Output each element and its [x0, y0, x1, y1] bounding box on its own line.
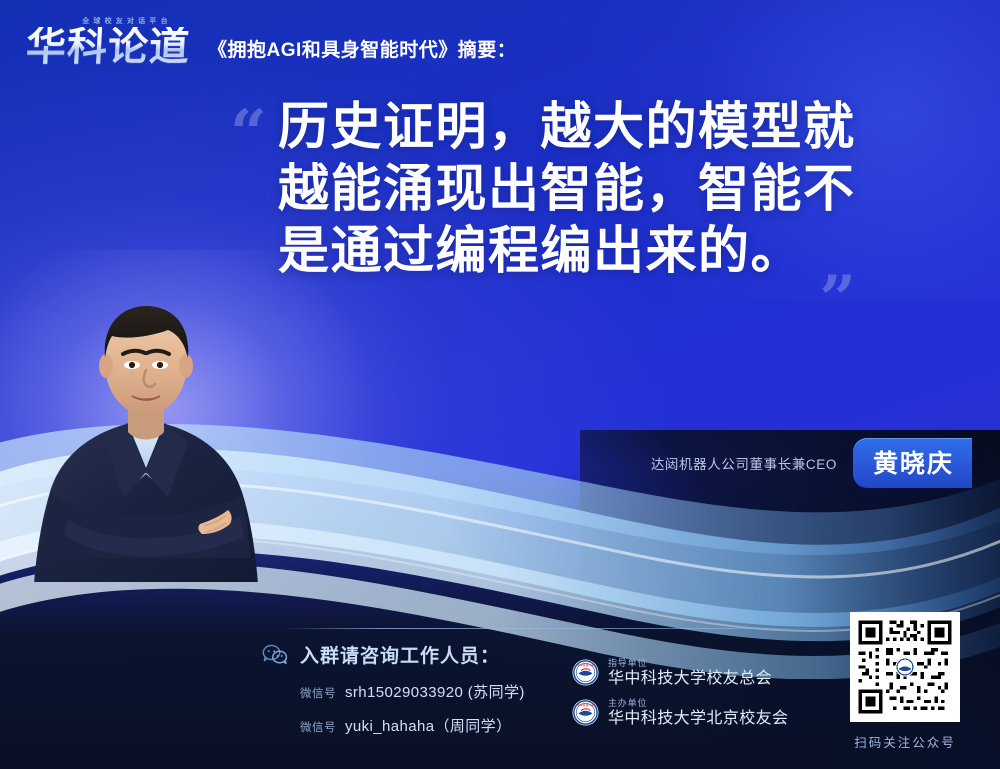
brand-logo[interactable]: 全球校友对话平台 华科论道: [26, 16, 190, 67]
logo-wordmark: 华科论道: [25, 27, 191, 67]
quote-text: 历史证明，越大的模型就 越能涌现出智能，智能不 是通过编程编出来的。: [278, 96, 938, 282]
university-seal-icon: 华中科技大学: [572, 699, 599, 726]
organization-kind: 指导单位: [608, 659, 772, 669]
header: 全球校友对话平台 华科论道 《拥抱AGI和具身智能时代》摘要：: [26, 16, 516, 67]
quote-line-2: 越能涌现出智能，智能不: [278, 158, 938, 220]
organizations-section: 华中科技大学 指导单位 华中科技大学校友总会: [572, 641, 788, 739]
contact-value[interactable]: yuki_hahaha（周同学）: [345, 715, 511, 736]
university-seal-icon: 华中科技大学: [572, 659, 599, 686]
open-quote-mark: “: [230, 102, 267, 166]
page-title: 《拥抱AGI和具身智能时代》摘要：: [208, 35, 516, 67]
close-quote-mark: ”: [819, 268, 856, 332]
contact-value[interactable]: srh15029033920 (苏同学): [345, 681, 525, 702]
organization-kind: 主办单位: [608, 699, 788, 709]
speaker-portrait: [28, 292, 264, 582]
contact-section: 入群请咨询工作人员： 微信号 srh15029033920 (苏同学) 微信号 …: [262, 641, 562, 739]
organization-name: 华中科技大学校友总会: [608, 670, 772, 687]
svg-text:华中科技大学: 华中科技大学: [576, 702, 594, 707]
speaker-role: 达闼机器人公司董事长兼CEO: [651, 453, 837, 473]
organization-row: 华中科技大学 主办单位 华中科技大学北京校友会: [572, 699, 788, 727]
contact-row: 微信号 srh15029033920 (苏同学): [300, 681, 562, 702]
footer: 入群请咨询工作人员： 微信号 srh15029033920 (苏同学) 微信号 …: [262, 628, 822, 739]
contact-label: 微信号: [300, 685, 336, 701]
contact-heading: 入群请咨询工作人员：: [300, 641, 500, 668]
qr-code-block: 扫码关注公众号: [838, 612, 972, 751]
poster-canvas: 全球校友对话平台 华科论道 《拥抱AGI和具身智能时代》摘要： “ 历史证明，越…: [0, 0, 1000, 769]
contact-row: 微信号 yuki_hahaha（周同学）: [300, 715, 562, 736]
organization-name: 华中科技大学北京校友会: [608, 710, 788, 727]
svg-text:华中科技大学: 华中科技大学: [576, 662, 594, 667]
speaker-attribution: 达闼机器人公司董事长兼CEO 黄晓庆: [651, 438, 972, 488]
speaker-name-badge: 黄晓庆: [853, 438, 972, 488]
wechat-icon: [262, 644, 288, 666]
footer-divider: [286, 628, 821, 629]
organization-row: 华中科技大学 指导单位 华中科技大学校友总会: [572, 659, 788, 687]
quote-block: “ 历史证明，越大的模型就 越能涌现出智能，智能不 是通过编程编出来的。 ”: [230, 96, 950, 282]
qr-caption: 扫码关注公众号: [838, 732, 972, 751]
contact-label: 微信号: [300, 719, 336, 735]
qr-code-image[interactable]: [850, 612, 960, 722]
quote-line-1: 历史证明，越大的模型就: [278, 96, 938, 158]
